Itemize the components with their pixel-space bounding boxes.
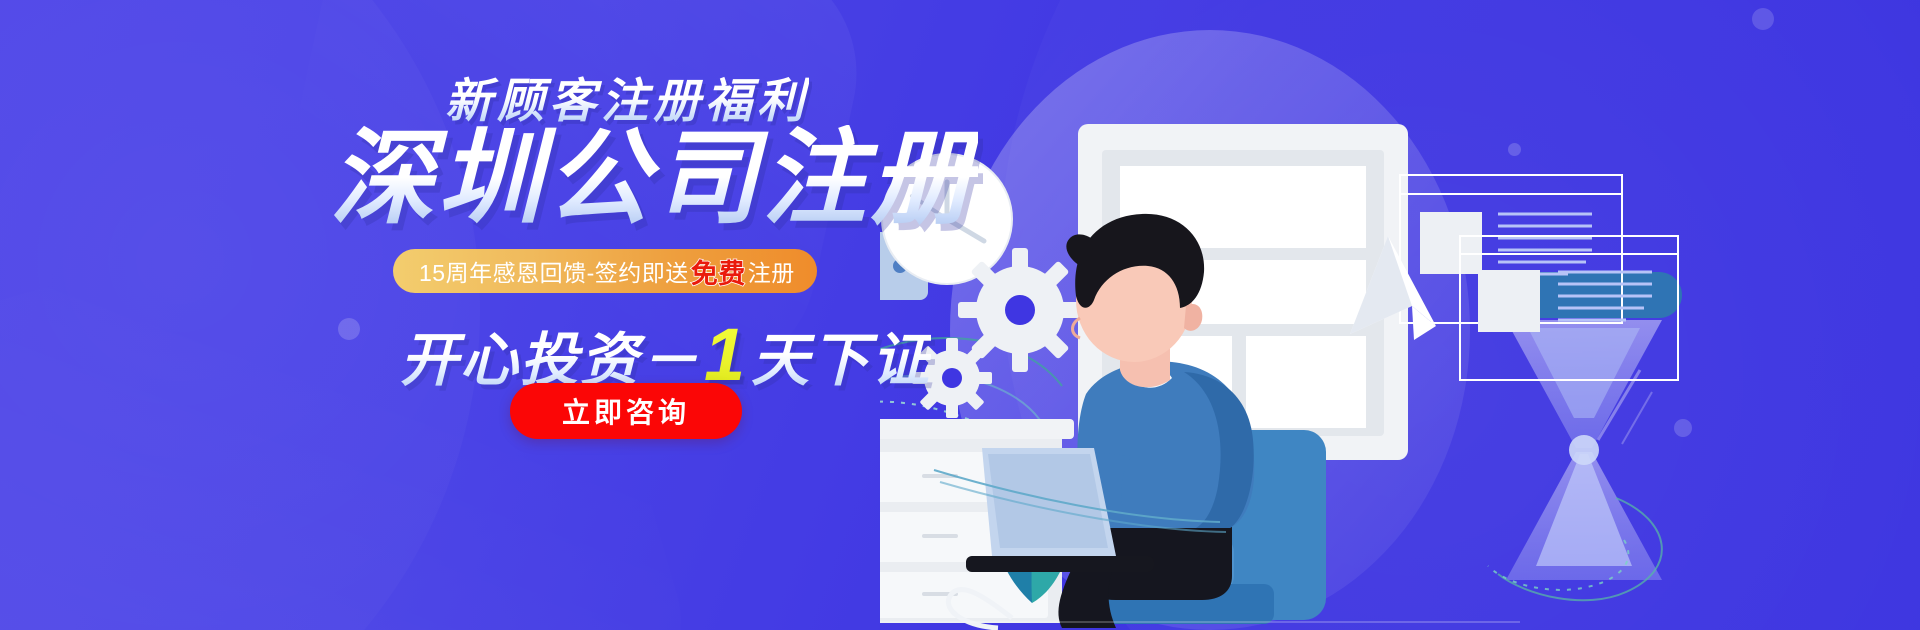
tagline-suffix: 天下证 — [751, 313, 931, 397]
promo-badge: 15周年感恩回馈-签约即送免费注册 — [393, 249, 817, 293]
consult-now-button[interactable]: 立即咨询 — [510, 383, 742, 439]
page-title: 深圳公司注册 — [330, 125, 978, 234]
copy-block: 新顾客注册福利 深圳公司注册 15周年感恩回馈-签约即送免费注册 开心投资－1天… — [0, 0, 980, 630]
promo-suffix: 注册 — [748, 254, 795, 288]
promo-prefix: 15周年感恩回馈-签约即送 — [419, 254, 689, 288]
hero-illustration — [880, 0, 1920, 630]
promo-banner: 新顾客注册福利 深圳公司注册 15周年感恩回馈-签约即送免费注册 开心投资－1天… — [0, 0, 1920, 630]
promo-highlight: 免费 — [689, 252, 748, 291]
